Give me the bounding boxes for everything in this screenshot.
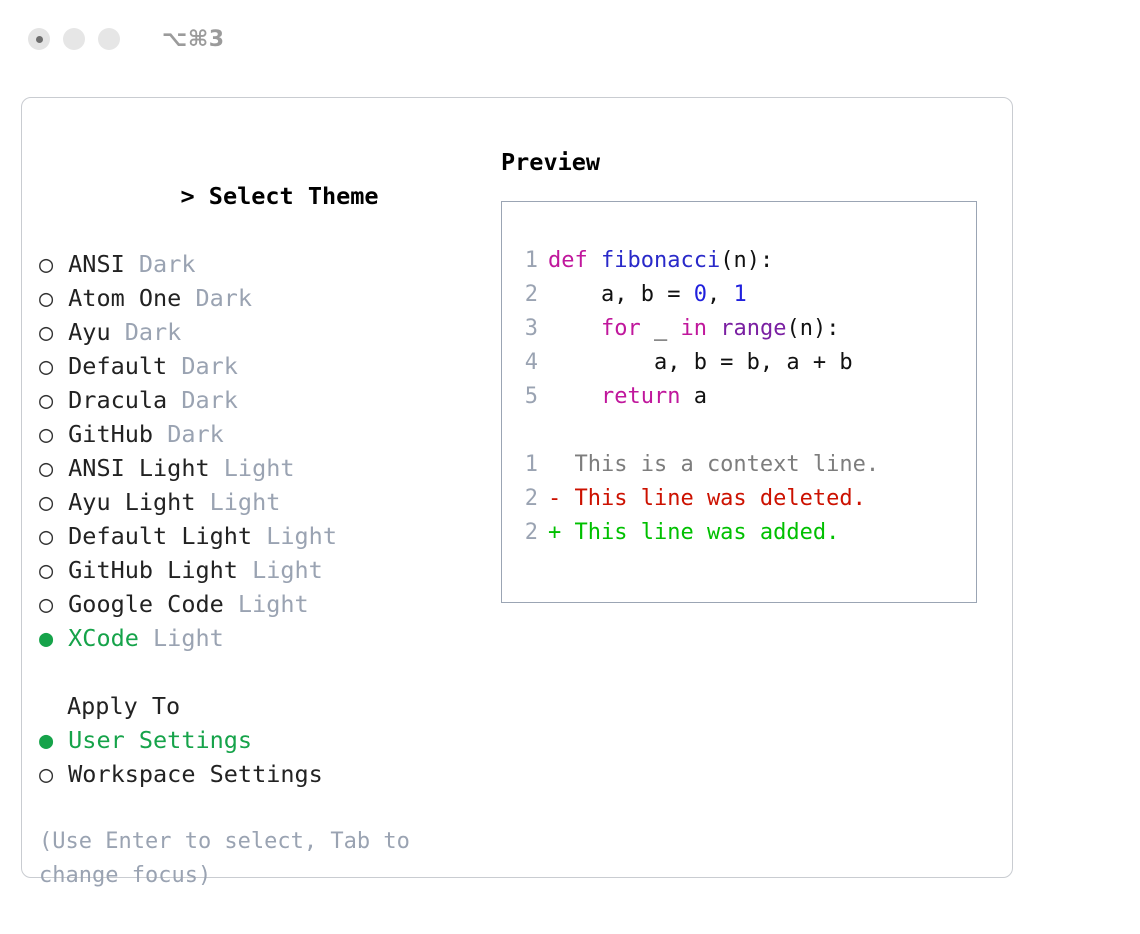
code-line: 1def fibonacci(n): xyxy=(502,244,976,278)
apply-option-user-settings[interactable]: ● User Settings xyxy=(39,723,489,757)
token-del: - This line was deleted. xyxy=(548,486,866,511)
theme-variant-tag: Dark xyxy=(125,250,196,278)
theme-option-label: Default Light xyxy=(54,522,252,550)
token-pln: , xyxy=(707,282,734,307)
radio-unselected-icon: ○ xyxy=(39,315,54,349)
line-number: 1 xyxy=(502,448,548,482)
theme-variant-tag: Light xyxy=(210,454,295,482)
code-text: a, b = 0, 1 xyxy=(548,278,747,312)
code-line: 2 a, b = 0, 1 xyxy=(502,278,976,312)
radio-unselected-icon: ○ xyxy=(39,281,54,315)
token-num: 1 xyxy=(733,282,746,307)
radio-unselected-icon: ○ xyxy=(39,247,54,281)
line-number: 3 xyxy=(502,312,548,346)
theme-option-github[interactable]: ○ GitHub Dark xyxy=(39,417,489,451)
code-text: - This line was deleted. xyxy=(548,482,866,516)
theme-option-label: ANSI Light xyxy=(54,454,210,482)
radio-unselected-icon: ○ xyxy=(39,519,54,553)
radio-unselected-icon: ○ xyxy=(39,451,54,485)
theme-option-label: Google Code xyxy=(54,590,224,618)
token-pln xyxy=(548,316,601,341)
preview-box: 1def fibonacci(n):2 a, b = 0, 13 for _ i… xyxy=(501,201,977,603)
line-number: 5 xyxy=(502,380,548,414)
token-fn: fibonacci xyxy=(601,248,720,273)
apply-to-option-list: ● User Settings○ Workspace Settings xyxy=(39,723,489,791)
traffic-lights xyxy=(28,28,120,50)
theme-option-ansi-light[interactable]: ○ ANSI Light Light xyxy=(39,451,489,485)
theme-variant-tag: Light xyxy=(139,624,224,652)
code-text: + This line was added. xyxy=(548,516,839,550)
app-window: ⌥⌘3 > Select Theme ○ ANSI Dark○ Atom One… xyxy=(0,0,1140,934)
theme-option-label: XCode xyxy=(54,624,139,652)
line-number: 2 xyxy=(502,278,548,312)
theme-option-label: Ayu xyxy=(54,318,111,346)
theme-variant-tag: Dark xyxy=(181,284,252,312)
caret-icon: > xyxy=(180,182,194,210)
theme-option-dracula[interactable]: ○ Dracula Dark xyxy=(39,383,489,417)
theme-option-ansi[interactable]: ○ ANSI Dark xyxy=(39,247,489,281)
theme-option-github-light[interactable]: ○ GitHub Light Light xyxy=(39,553,489,587)
panel-columns: > Select Theme ○ ANSI Dark○ Atom One Dar… xyxy=(22,98,1012,877)
token-add: + This line was added. xyxy=(548,520,839,545)
theme-variant-tag: Light xyxy=(238,556,323,584)
theme-option-label: Ayu Light xyxy=(54,488,195,516)
code-sample: 1def fibonacci(n):2 a, b = 0, 13 for _ i… xyxy=(502,244,976,414)
theme-option-label: ANSI xyxy=(54,250,125,278)
token-bi: range xyxy=(720,316,786,341)
token-kw: def xyxy=(548,248,601,273)
theme-variant-tag: Light xyxy=(252,522,337,550)
preview-column: Preview 1def fibonacci(n):2 a, b = 0, 13… xyxy=(501,145,991,603)
radio-unselected-icon: ○ xyxy=(39,417,54,451)
code-text: def fibonacci(n): xyxy=(548,244,773,278)
theme-variant-tag: Dark xyxy=(153,420,224,448)
token-pln: (n): xyxy=(786,316,839,341)
radio-unselected-icon: ○ xyxy=(39,383,54,417)
theme-option-label: GitHub Light xyxy=(54,556,238,584)
main-panel: > Select Theme ○ ANSI Dark○ Atom One Dar… xyxy=(21,97,1013,878)
radio-unselected-icon: ○ xyxy=(39,553,54,587)
theme-list-column: > Select Theme ○ ANSI Dark○ Atom One Dar… xyxy=(39,145,489,893)
token-num: 0 xyxy=(694,282,707,307)
token-pln: (n): xyxy=(720,248,773,273)
radio-selected-icon: ● xyxy=(39,723,54,757)
line-number: 2 xyxy=(502,516,548,550)
apply-option-label: User Settings xyxy=(54,726,252,754)
line-number: 1 xyxy=(502,244,548,278)
token-pln: a, b = b, a + b xyxy=(548,350,853,375)
theme-option-label: GitHub xyxy=(54,420,153,448)
traffic-dot-inner xyxy=(36,36,43,43)
code-line: 4 a, b = b, a + b xyxy=(502,346,976,380)
token-ctx: This is a context line. xyxy=(548,452,879,477)
traffic-light-maximize[interactable] xyxy=(98,28,120,50)
code-spacer xyxy=(502,414,976,448)
title-bar: ⌥⌘3 xyxy=(0,0,1140,78)
code-line: 3 for _ in range(n): xyxy=(502,312,976,346)
keyboard-shortcut-label: ⌥⌘3 xyxy=(162,27,225,52)
line-number: 2 xyxy=(502,482,548,516)
code-text: for _ in range(n): xyxy=(548,312,839,346)
code-text: return a xyxy=(548,380,707,414)
diff-line: 2- This line was deleted. xyxy=(502,482,976,516)
radio-unselected-icon: ○ xyxy=(39,485,54,519)
theme-variant-tag: Light xyxy=(195,488,280,516)
apply-to-heading: Apply To xyxy=(39,689,489,723)
theme-option-xcode[interactable]: ● XCode Light xyxy=(39,621,489,655)
preview-heading: Preview xyxy=(501,145,991,179)
token-pln: _ xyxy=(641,316,681,341)
code-text: This is a context line. xyxy=(548,448,879,482)
diff-sample: 1 This is a context line.2- This line wa… xyxy=(502,448,976,550)
code-line: 5 return a xyxy=(502,380,976,414)
keyboard-hint-text: (Use Enter to select, Tab to change focu… xyxy=(39,825,439,893)
theme-option-default-light[interactable]: ○ Default Light Light xyxy=(39,519,489,553)
radio-selected-icon: ● xyxy=(39,621,54,655)
select-theme-heading-label xyxy=(195,182,209,210)
theme-variant-tag: Dark xyxy=(167,352,238,380)
radio-unselected-icon: ○ xyxy=(39,757,54,791)
traffic-light-minimize[interactable] xyxy=(63,28,85,50)
theme-option-label: Dracula xyxy=(54,386,167,414)
theme-option-atom-one[interactable]: ○ Atom One Dark xyxy=(39,281,489,315)
theme-option-list: ○ ANSI Dark○ Atom One Dark○ Ayu Dark○ De… xyxy=(39,247,489,655)
token-pln: a xyxy=(680,384,707,409)
diff-line: 2+ This line was added. xyxy=(502,516,976,550)
theme-option-default[interactable]: ○ Default Dark xyxy=(39,349,489,383)
theme-option-ayu-light[interactable]: ○ Ayu Light Light xyxy=(39,485,489,519)
diff-line: 1 This is a context line. xyxy=(502,448,976,482)
radio-unselected-icon: ○ xyxy=(39,349,54,383)
theme-option-label: Default xyxy=(54,352,167,380)
theme-option-label: Atom One xyxy=(54,284,181,312)
theme-option-ayu[interactable]: ○ Ayu Dark xyxy=(39,315,489,349)
token-pln: a, b = xyxy=(548,282,694,307)
line-number: 4 xyxy=(502,346,548,380)
code-text: a, b = b, a + b xyxy=(548,346,853,380)
token-kw: for xyxy=(601,316,641,341)
token-kw: return xyxy=(601,384,680,409)
token-pln xyxy=(707,316,720,341)
radio-unselected-icon: ○ xyxy=(39,587,54,621)
theme-variant-tag: Dark xyxy=(167,386,238,414)
apply-option-label: Workspace Settings xyxy=(54,760,323,788)
theme-option-google-code[interactable]: ○ Google Code Light xyxy=(39,587,489,621)
traffic-light-close[interactable] xyxy=(28,28,50,50)
select-theme-text: Select Theme xyxy=(209,182,379,210)
apply-option-workspace-settings[interactable]: ○ Workspace Settings xyxy=(39,757,489,791)
theme-variant-tag: Dark xyxy=(111,318,182,346)
theme-variant-tag: Light xyxy=(224,590,309,618)
token-kw: in xyxy=(680,316,707,341)
select-theme-heading: > Select Theme xyxy=(39,145,489,247)
token-pln xyxy=(548,384,601,409)
